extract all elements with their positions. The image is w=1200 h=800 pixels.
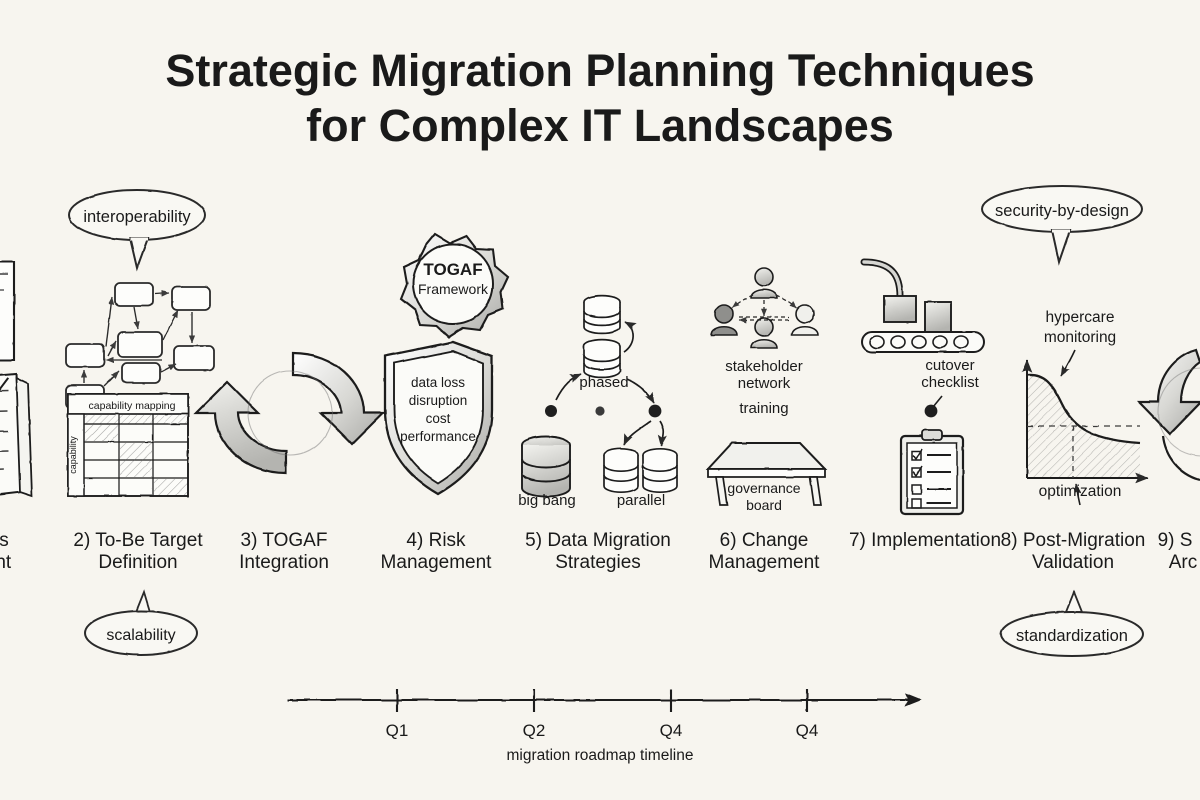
- training-label: training: [739, 400, 788, 417]
- stage-2-label-line-2: Definition: [98, 552, 177, 573]
- stage-1-label-line-1: s: [0, 530, 9, 551]
- timeline-caption: migration roadmap timeline: [507, 747, 694, 764]
- cutover-checklist-line-2: checklist: [921, 374, 979, 391]
- stage-7-label-line-1: 7) Implementation: [849, 530, 1001, 551]
- hypercare-line-2: monitoring: [1044, 329, 1116, 346]
- togaf-badge-line-2: Framework: [418, 281, 489, 297]
- stage-1-label-line-2: ent: [0, 552, 12, 573]
- risk-item-1: disruption: [409, 393, 468, 408]
- bubble-scalability-label: scalability: [106, 627, 175, 644]
- stage-6-label-line-2: Management: [709, 552, 821, 573]
- risk-item-0: data loss: [411, 375, 465, 390]
- big-bang-label: big bang: [518, 492, 576, 509]
- bubble-standardization-label: standardization: [1016, 627, 1128, 645]
- cutover-node: [925, 405, 938, 418]
- title-line-1: Strategic Migration Planning Techniques: [165, 45, 1034, 96]
- stage-9-label-line-1: 9) S: [1158, 530, 1193, 551]
- governance-board-line-1: governance: [727, 480, 800, 496]
- timeline-tick-3: Q4: [796, 721, 819, 740]
- stage-5-label-line-2: Strategies: [555, 552, 641, 573]
- phased-label: phased: [579, 374, 628, 391]
- table-axis-label: capability: [68, 436, 78, 474]
- big-bang-database-icon: [522, 437, 570, 497]
- stage-3-label-line-2: Integration: [239, 552, 329, 573]
- stage-4-label-line-1: 4) Risk: [406, 530, 466, 551]
- parallel-label: parallel: [617, 492, 665, 509]
- stage-4-label-line-2: Management: [381, 552, 493, 573]
- timeline-tick-2: Q4: [660, 721, 683, 740]
- checklist-pages-icon: [0, 374, 32, 498]
- stakeholder-network-line-1: stakeholder: [725, 358, 803, 375]
- togaf-badge-line-1: TOGAF: [423, 260, 482, 279]
- document-icon: [0, 262, 14, 360]
- hypercare-line-1: hypercare: [1046, 309, 1115, 326]
- governance-board-line-2: board: [746, 497, 782, 513]
- stage-3-label-line-1: 3) TOGAF: [241, 530, 328, 551]
- stage-6-label-line-1: 6) Change: [720, 530, 809, 551]
- bubble-security-label: security-by-design: [995, 202, 1129, 220]
- bubble-interoperability-label: interoperability: [83, 208, 191, 226]
- stage-8-label-line-2: Validation: [1032, 552, 1114, 573]
- cutover-checklist-line-1: cutover: [925, 357, 974, 374]
- table-header-label: capability mapping: [89, 400, 176, 412]
- whiteboard-sketch: Strategic Migration Planning Techniques …: [0, 0, 1200, 800]
- title-line-2: for Complex IT Landscapes: [306, 100, 894, 151]
- clipboard-checklist-icon: [901, 430, 963, 514]
- stage-9-label-line-2: Arc: [1169, 552, 1198, 573]
- stage-8-label-line-1: 8) Post-Migration: [1001, 530, 1146, 551]
- stage-5-label-line-1: 5) Data Migration: [525, 530, 671, 551]
- risk-item-2: cost: [426, 411, 451, 426]
- timeline-tick-1: Q2: [523, 721, 546, 740]
- optimization-label: optimization: [1039, 483, 1122, 500]
- timeline-tick-0: Q1: [386, 721, 409, 740]
- stakeholder-network-line-2: network: [738, 375, 791, 392]
- risk-item-3: performance: [400, 429, 476, 444]
- capability-mapping-table: capability mapping capability: [68, 394, 188, 496]
- stage-2-label-line-1: 2) To-Be Target: [73, 530, 203, 551]
- diagram-canvas: Strategic Migration Planning Techniques …: [0, 0, 1200, 800]
